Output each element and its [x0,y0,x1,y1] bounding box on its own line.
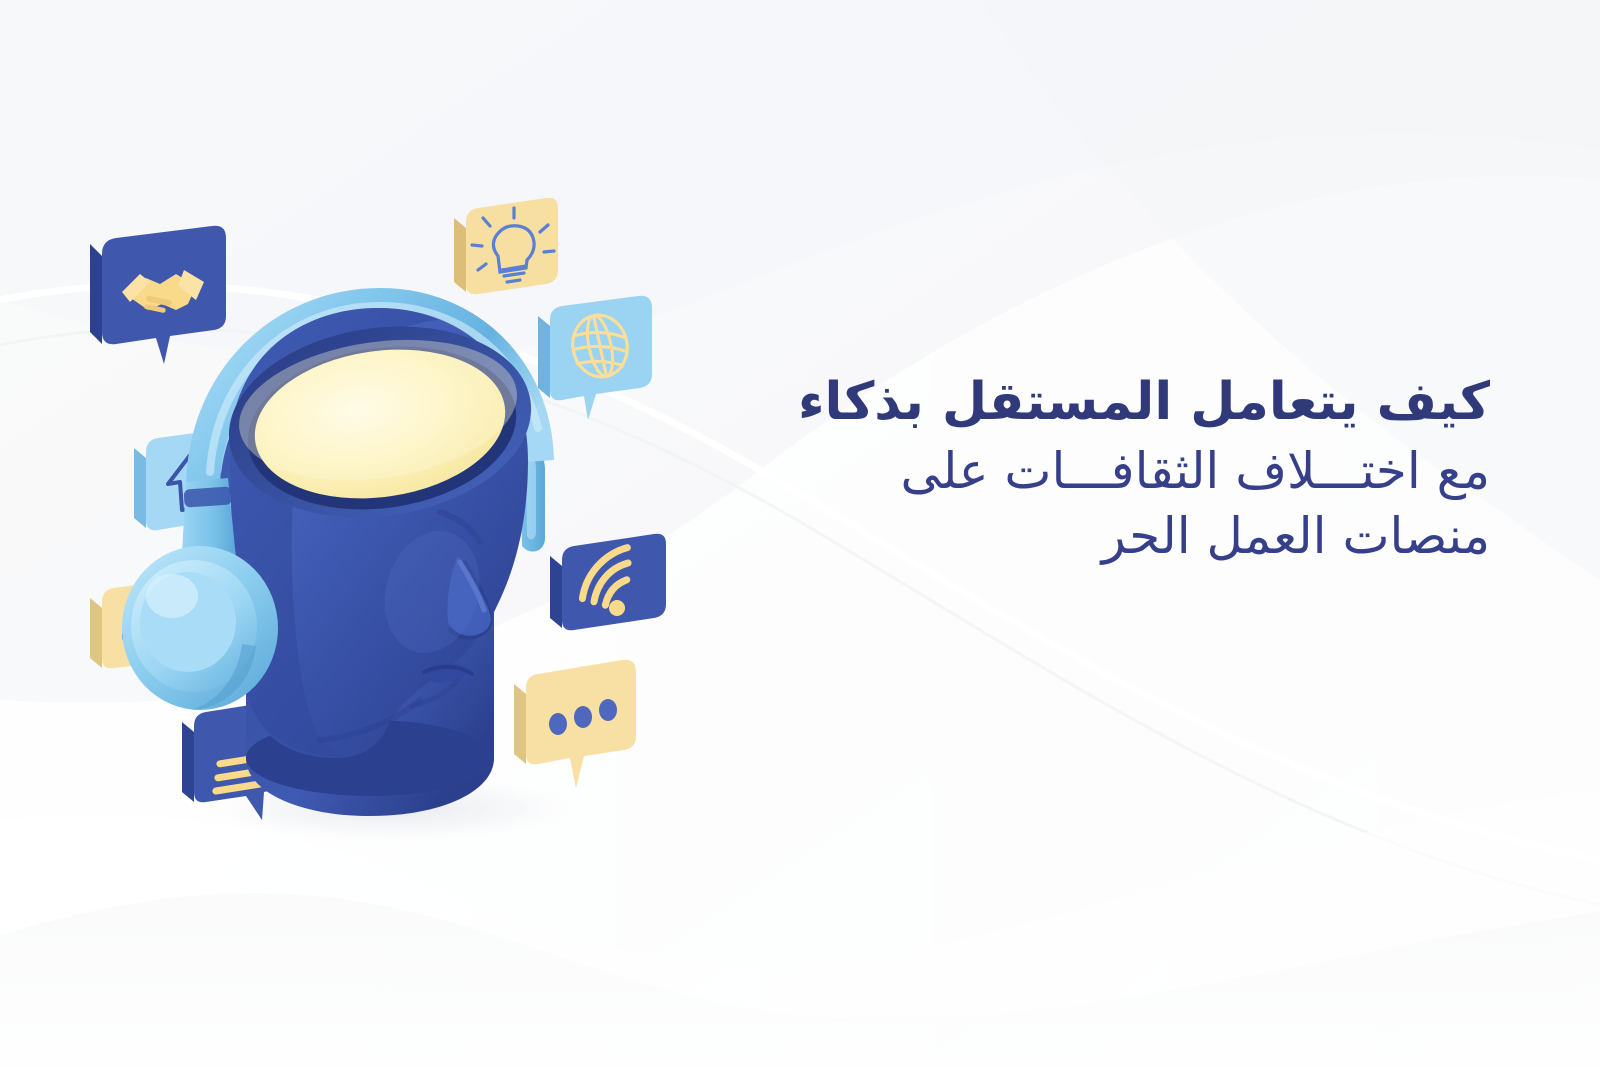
handshake-bubble-side [90,244,102,344]
wifi-card-body [562,534,666,631]
dots-bubble-left-side [90,598,102,668]
icon-wifi-card [550,534,666,631]
headline-line-3: منصات العمل الحر [670,504,1490,569]
arrow-bubble-side [134,448,146,528]
banner-root: كيف يتعامل المستقل بذكاء مع اختـــلاف ال… [0,0,1600,1067]
icon-globe-bubble [538,296,652,420]
lightbulb-card-side [454,218,466,292]
wifi-card-side [550,556,562,628]
wifi-dot [609,600,625,616]
headline-line-2: مع اختـــلاف الثقافـــات على [670,439,1490,504]
icon-handshake-bubble [90,226,226,364]
earcup-highlight [146,574,198,618]
head-group [216,308,543,816]
left-arm-slider-joint [183,486,232,507]
icon-chat-dots-bubble-right [514,660,636,788]
dots-bubble-right-side [514,684,526,764]
illustration-head-with-headphones [60,160,700,880]
headline-line-1: كيف يتعامل المستقل بذكاء [670,372,1490,433]
globe-bubble-side [538,316,550,398]
lines-bubble-side [182,722,194,802]
headline-block: كيف يتعامل المستقل بذكاء مع اختـــلاف ال… [670,372,1490,569]
icon-lightbulb-card [454,198,558,295]
